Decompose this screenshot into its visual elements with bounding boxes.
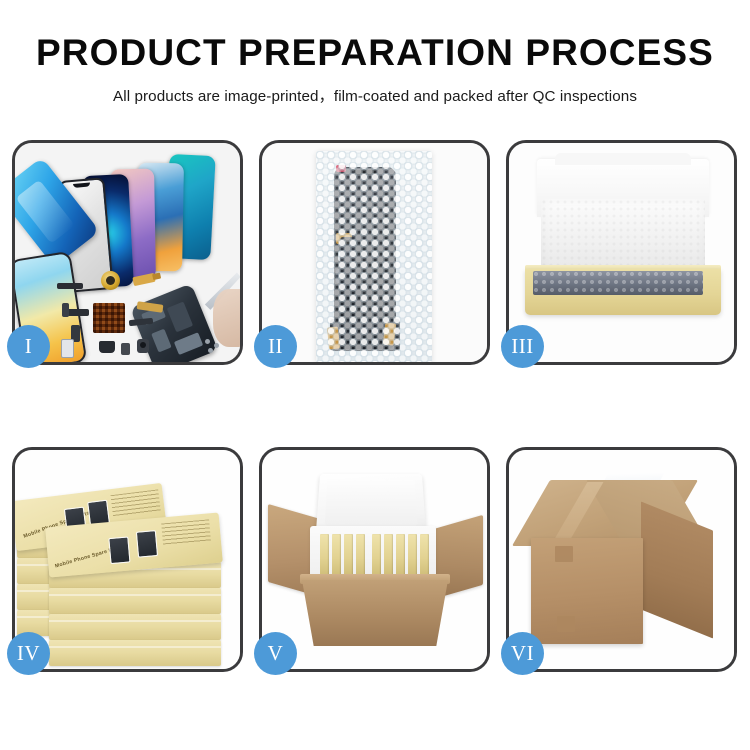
hand — [213, 289, 240, 347]
step-6-image — [509, 450, 734, 669]
coil-component — [101, 271, 120, 290]
button-component — [121, 343, 130, 355]
step-panel-5: V — [259, 447, 490, 672]
flex-cable-dark-1 — [67, 309, 89, 316]
header: PRODUCT PREPARATION PROCESS All products… — [0, 0, 750, 106]
step-panel-1: I — [12, 140, 243, 365]
step-5-image — [262, 450, 487, 669]
carton-front-face — [531, 538, 643, 644]
step-badge-3: III — [501, 325, 544, 368]
step-badge-6: VI — [501, 632, 544, 675]
bubble-texture-overlay — [316, 151, 432, 362]
page-subtitle: All products are image-printed，film-coat… — [0, 84, 750, 106]
product-preparation-infographic: PRODUCT PREPARATION PROCESS All products… — [0, 0, 750, 750]
connector-bar-component — [57, 283, 83, 289]
step-3-image — [509, 143, 734, 362]
step-badge-4: IV — [7, 632, 50, 675]
page-title: PRODUCT PREPARATION PROCESS — [0, 34, 750, 73]
carton-body — [302, 580, 448, 646]
sim-tray-component — [61, 339, 74, 358]
camera-module-component — [137, 339, 149, 353]
bubble-wrap-pouch — [316, 151, 432, 362]
step-1-image — [15, 143, 240, 362]
step-badge-1: I — [7, 325, 50, 368]
foam-padding-sheet — [541, 199, 705, 275]
process-steps-grid: I — [12, 140, 738, 672]
carton-tab-lower — [557, 616, 575, 632]
wrapped-contents — [533, 271, 703, 295]
speaker-component — [99, 341, 115, 353]
step-badge-2: II — [254, 325, 297, 368]
step-4-image: Mobile Phone Spare Parts Mobile Phone Sp… — [15, 450, 240, 669]
chip-array-component — [93, 303, 125, 333]
carton-tab-upper — [555, 546, 573, 562]
step-panel-6: VI — [506, 447, 737, 672]
step-badge-5: V — [254, 632, 297, 675]
step-panel-4: Mobile Phone Spare Parts Mobile Phone Sp… — [12, 447, 243, 672]
step-2-image — [262, 143, 487, 362]
step-panel-3: III — [506, 140, 737, 365]
step-panel-2: II — [259, 140, 490, 365]
packed-boxes — [320, 534, 428, 578]
